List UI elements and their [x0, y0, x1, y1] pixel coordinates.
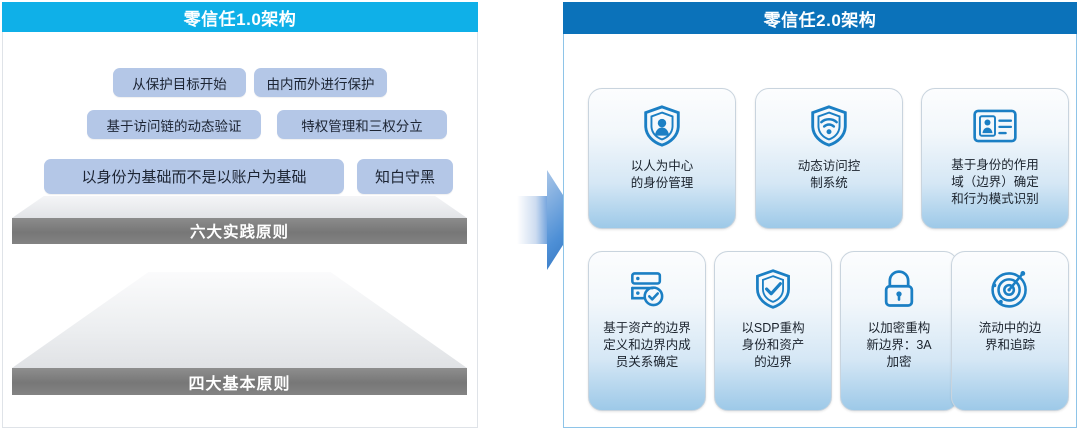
- card-flow-boundary-tracking[interactable]: 流动中的边 界和追踪: [951, 251, 1069, 411]
- card-caption: 以SDP重构 身份和资产 的边界: [735, 320, 810, 371]
- shield-check-icon: [751, 266, 795, 312]
- card-identity-based-domain[interactable]: 基于身份的作用 域（边界）确定 和行为模式识别: [921, 88, 1069, 229]
- chip-practice-6: 知白守黑: [357, 159, 453, 194]
- radar-target-icon: [988, 266, 1032, 312]
- card-caption: 基于身份的作用 域（边界）确定 和行为模式识别: [945, 157, 1045, 208]
- card-caption: 基于资产的边界 定义和边界内成 员关系确定: [597, 320, 697, 371]
- chip-practice-2: 由内而外进行保护: [254, 68, 387, 97]
- card-human-centric-identity[interactable]: 以人为中心 的身份管理: [588, 88, 736, 229]
- card-dynamic-access-control[interactable]: 动态访问控 制系统: [755, 88, 903, 229]
- chip-practice-3: 基于访问链的动态验证: [87, 110, 261, 139]
- arrow-shaft: [517, 196, 551, 244]
- card-caption: 流动中的边 界和追踪: [973, 320, 1048, 354]
- pyramid-label-four: 四大基本原则: [12, 368, 467, 395]
- card-asset-boundary[interactable]: 基于资产的边界 定义和边界内成 员关系确定: [588, 251, 706, 411]
- card-caption: 以人为中心 的身份管理: [625, 158, 700, 192]
- platform-top-surface: [12, 196, 467, 218]
- chip-practice-1: 从保护目标开始: [113, 68, 246, 97]
- lock-icon: [878, 266, 920, 312]
- shield-wifi-icon: [806, 103, 852, 149]
- card-encryption-boundary[interactable]: 以加密重构 新边界：3A 加密: [840, 251, 958, 411]
- shield-person-icon: [639, 103, 685, 149]
- card-caption: 以加密重构 新边界：3A 加密: [860, 320, 937, 371]
- chip-practice-4: 特权管理和三权分立: [277, 110, 447, 139]
- chip-practice-5: 以身份为基础而不是以账户为基础: [44, 159, 344, 194]
- server-check-icon: [625, 266, 669, 312]
- pyramid-four-basic-principles: 四大基本原则: [12, 272, 467, 395]
- platform-label-six: 六大实践原则: [12, 218, 467, 244]
- right-panel-title: 零信任2.0架构: [563, 2, 1077, 34]
- card-caption: 动态访问控 制系统: [792, 158, 867, 192]
- platform-six-practice-principles: 六大实践原则: [12, 196, 467, 244]
- left-panel-title: 零信任1.0架构: [2, 2, 478, 32]
- card-sdp-boundary[interactable]: 以SDP重构 身份和资产 的边界: [714, 251, 832, 411]
- zero-trust-architecture-diagram: 零信任1.0架构 从保护目标开始 由内而外进行保护 基于访问链的动态验证 特权管…: [0, 0, 1080, 430]
- id-card-icon: [972, 103, 1018, 149]
- pyramid-slope: [12, 272, 467, 368]
